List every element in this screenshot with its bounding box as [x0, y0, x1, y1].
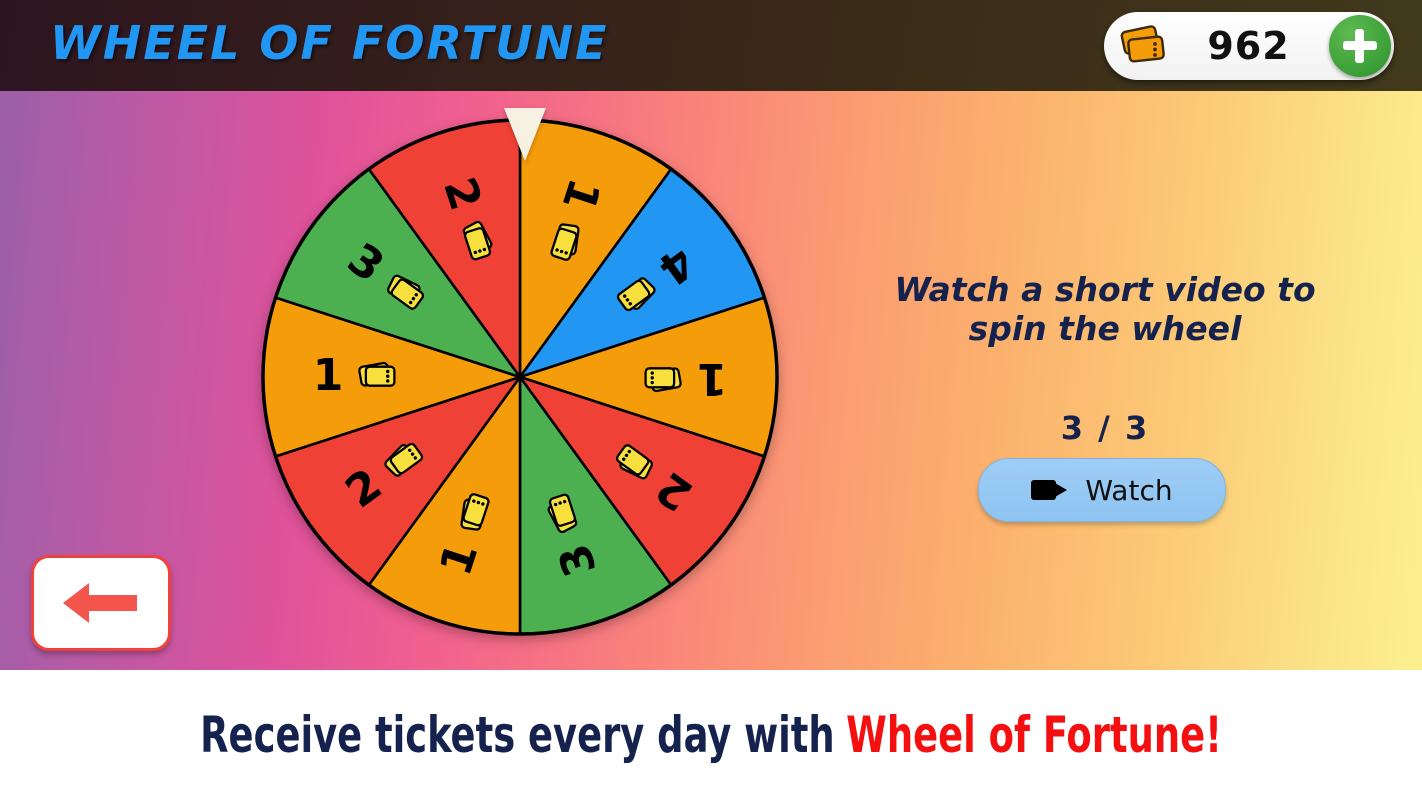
- back-button[interactable]: [31, 555, 171, 651]
- wheel-segment-value: 1: [697, 353, 728, 404]
- right-panel: Watch a short video to spin the wheel 3 …: [855, 91, 1355, 670]
- add-tickets-button[interactable]: [1329, 15, 1391, 77]
- wheel-segment-value: 1: [313, 350, 344, 401]
- fortune-wheel[interactable]: 1412312132: [261, 118, 779, 636]
- game-stage: 1412312132 Watch a short video to spin t…: [0, 91, 1422, 670]
- video-camera-icon: [1031, 478, 1067, 502]
- spin-counter: 3 / 3: [855, 409, 1355, 447]
- ticket-count: 962: [1168, 24, 1329, 68]
- bottom-banner: Receive tickets every day withWheel of F…: [0, 670, 1422, 800]
- left-arrow-icon: [59, 577, 143, 629]
- watch-prompt-text: Watch a short video to spin the wheel: [855, 271, 1355, 348]
- banner-text-accent: Wheel of Fortune!: [846, 706, 1222, 764]
- plus-icon: [1343, 29, 1377, 63]
- banner-text: Receive tickets every day withWheel of F…: [200, 706, 1222, 764]
- banner-text-primary: Receive tickets every day with: [200, 706, 835, 764]
- ticket-balance-pill: 962: [1104, 12, 1394, 80]
- page-title: WHEEL OF FORTUNE: [50, 16, 608, 70]
- wheel-pointer-triangle: [504, 108, 546, 161]
- watch-button-label: Watch: [1085, 474, 1172, 507]
- app-header: WHEEL OF FORTUNE 962: [0, 0, 1422, 91]
- ticket-icon: [646, 368, 682, 392]
- wheel-container[interactable]: 1412312132: [261, 118, 779, 636]
- wheel-of-fortune-screen: WHEEL OF FORTUNE 962: [0, 0, 1422, 800]
- watch-button[interactable]: Watch: [978, 458, 1226, 522]
- ticket-icon: [359, 362, 395, 386]
